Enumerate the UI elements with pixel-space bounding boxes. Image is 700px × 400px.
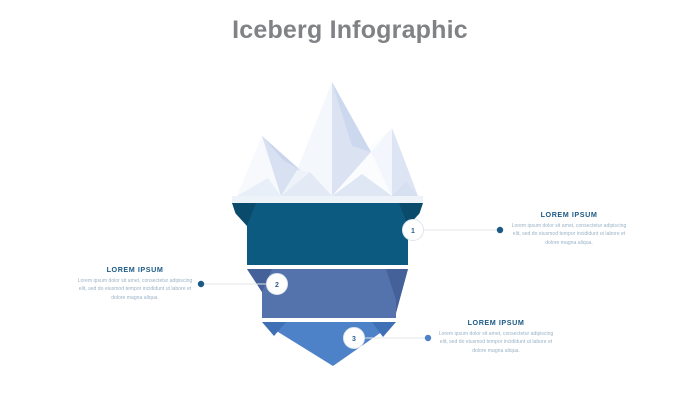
info-body-1: Lorem ipsum dolor sit amet, consectetur … — [510, 222, 628, 247]
info-body-3: Lorem ipsum dolor sit amet, consectetur … — [437, 330, 555, 355]
marker-3-number: 3 — [352, 336, 356, 343]
marker-2[interactable]: 2 — [267, 274, 288, 295]
info-block-2: LOREM IPSUM Lorem ipsum dolor sit amet, … — [76, 265, 194, 302]
marker-1-number: 1 — [411, 228, 415, 235]
marker-1[interactable]: 1 — [403, 220, 424, 241]
iceberg-illustration: 1 2 3 — [0, 0, 700, 400]
marker-3[interactable]: 3 — [344, 328, 365, 349]
infographic-canvas: Iceberg Infographic — [0, 0, 700, 400]
connector-dot-1 — [497, 227, 503, 233]
connector-dot-2 — [198, 281, 204, 287]
info-block-3: LOREM IPSUM Lorem ipsum dolor sit amet, … — [437, 318, 555, 355]
connector-dot-3 — [425, 335, 431, 341]
info-body-2: Lorem ipsum dolor sit amet, consectetur … — [76, 277, 194, 302]
band-3-body — [262, 322, 396, 366]
iceberg-tip-group — [237, 82, 418, 196]
marker-2-number: 2 — [275, 282, 279, 289]
info-heading-2: LOREM IPSUM — [76, 265, 194, 274]
waterline-band — [232, 196, 423, 203]
info-heading-3: LOREM IPSUM — [437, 318, 555, 327]
band-1-body — [232, 203, 423, 265]
info-heading-1: LOREM IPSUM — [510, 210, 628, 219]
info-block-1: LOREM IPSUM Lorem ipsum dolor sit amet, … — [510, 210, 628, 247]
